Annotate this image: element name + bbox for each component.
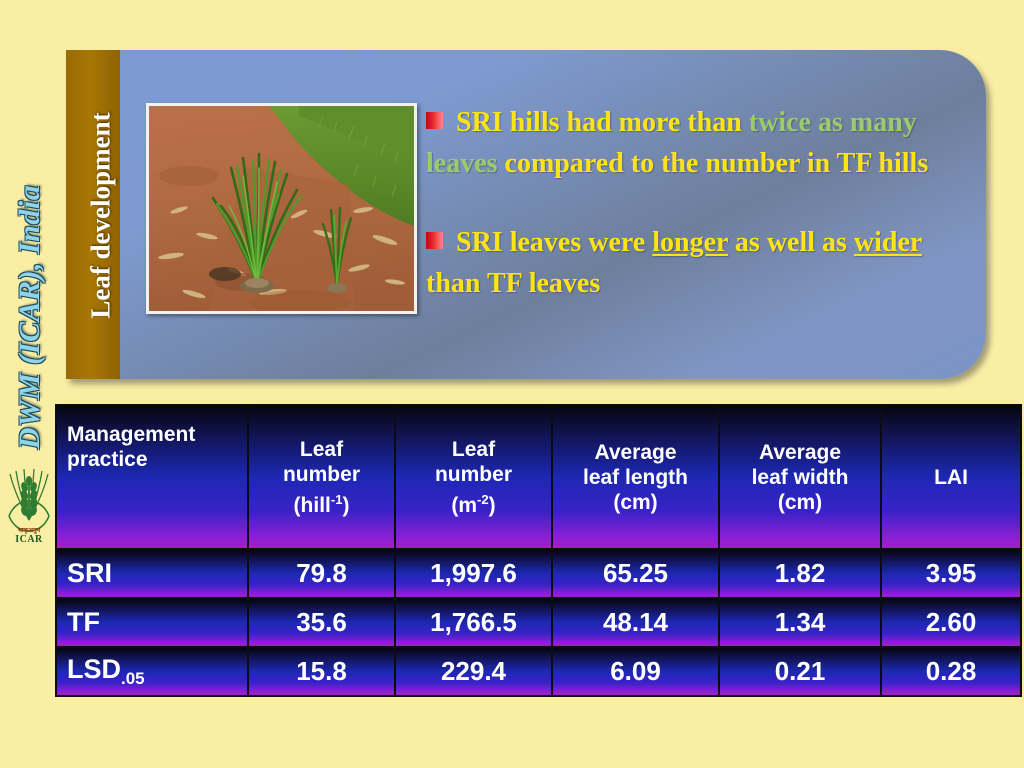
- row-label-tf: TF: [57, 599, 247, 646]
- table-row: TF 35.6 1,766.5 48.14 1.34 2.60: [57, 599, 1020, 646]
- header-line-1: Management: [67, 422, 247, 447]
- cell-lsd-leaf-width: 0.21: [720, 648, 880, 695]
- section-title: Leaf development: [86, 71, 117, 361]
- column-header-lai: LAI: [882, 406, 1020, 548]
- table-row: LSD.05 15.8 229.4 6.09 0.21 0.28: [57, 648, 1020, 695]
- row-label-text: LSD: [67, 654, 121, 684]
- row-label-sri: SRI: [57, 550, 247, 597]
- bullet-2-seg-2-underlined: longer: [652, 227, 728, 258]
- header-line-3: (cm): [553, 490, 718, 515]
- bullet-item-2: SRI leaves were longer as well as wider …: [426, 222, 961, 304]
- header-line-1: Average: [720, 440, 880, 465]
- organization-label: DWM (ICAR), India: [13, 137, 47, 497]
- column-header-management-practice: Management practice: [57, 406, 247, 548]
- row-label-text: TF: [67, 607, 100, 637]
- section-title-bar: Leaf development: [66, 50, 120, 379]
- cell-tf-leaf-length: 48.14: [553, 599, 718, 646]
- table-row: SRI 79.8 1,997.6 65.25 1.82 3.95: [57, 550, 1020, 597]
- table-header-row: Management practice Leaf number (hill-1)…: [57, 406, 1020, 548]
- header-line-1: Leaf: [249, 437, 394, 462]
- bullet-1-seg-3: compared to the number in TF hills: [498, 148, 929, 179]
- header-line-2: practice: [67, 447, 247, 472]
- header-unit-close: ): [489, 494, 496, 517]
- header-line-2: leaf length: [553, 465, 718, 490]
- bullet-2-seg-3: as well as: [728, 227, 854, 258]
- bullet-1-seg-1: SRI hills had more than: [456, 107, 749, 138]
- cell-tf-leaf-number-m2: 1,766.5: [396, 599, 551, 646]
- header-line-2: number: [396, 462, 551, 487]
- bullet-2-seg-1: SRI leaves were: [456, 227, 652, 258]
- logo-acronym-label: ICAR: [3, 534, 55, 545]
- header-line-1: LAI: [882, 465, 1020, 490]
- column-header-leaf-number-m2: Leaf number (m-2): [396, 406, 551, 548]
- header-unit-exponent: -2: [477, 492, 489, 507]
- header-line-2: leaf width: [720, 465, 880, 490]
- cell-tf-leaf-width: 1.34: [720, 599, 880, 646]
- cell-sri-leaf-number-m2: 1,997.6: [396, 550, 551, 597]
- cell-lsd-lai: 0.28: [882, 648, 1020, 695]
- header-line-1: Average: [553, 440, 718, 465]
- header-line-3: (cm): [720, 490, 880, 515]
- row-label-lsd: LSD.05: [57, 648, 247, 695]
- column-header-average-leaf-width: Average leaf width (cm): [720, 406, 880, 548]
- cell-lsd-leaf-length: 6.09: [553, 648, 718, 695]
- cell-tf-lai: 2.60: [882, 599, 1020, 646]
- red-square-bullet-icon: [426, 112, 443, 129]
- cell-tf-leaf-number-hill: 35.6: [249, 599, 394, 646]
- column-header-average-leaf-length: Average leaf length (cm): [553, 406, 718, 548]
- bullet-item-1: SRI hills had more than twice as many le…: [426, 102, 961, 184]
- row-label-text: SRI: [67, 558, 112, 588]
- cell-sri-leaf-number-hill: 79.8: [249, 550, 394, 597]
- rice-hills-field-photo: [146, 103, 417, 314]
- header-line-1: Leaf: [396, 437, 551, 462]
- wheat-sheaf-icon: भाकृअनुप ICAR: [3, 450, 55, 545]
- cell-sri-lai: 3.95: [882, 550, 1020, 597]
- cell-lsd-leaf-number-m2: 229.4: [396, 648, 551, 695]
- logo-hindi-label: भाकृअनुप: [3, 526, 55, 534]
- cell-sri-leaf-length: 65.25: [553, 550, 718, 597]
- bullet-list: SRI hills had more than twice as many le…: [426, 102, 961, 304]
- header-line-3: (m-2): [396, 487, 551, 518]
- header-unit-exponent: -1: [331, 492, 343, 507]
- content-panel: Leaf development: [66, 50, 986, 379]
- leaf-development-table: Management practice Leaf number (hill-1)…: [55, 404, 1022, 697]
- column-header-leaf-number-hill: Leaf number (hill-1): [249, 406, 394, 548]
- brand-strip: DWM (ICAR), India: [0, 0, 56, 768]
- header-unit-open: (hill: [294, 494, 331, 517]
- bullet-2-seg-5: than TF leaves: [426, 268, 600, 299]
- cell-lsd-leaf-number-hill: 15.8: [249, 648, 394, 695]
- row-label-subscript: .05: [121, 669, 145, 688]
- header-unit-open: (m: [451, 494, 477, 517]
- cell-sri-leaf-width: 1.82: [720, 550, 880, 597]
- header-line-3: (hill-1): [249, 487, 394, 518]
- red-square-bullet-icon: [426, 232, 443, 249]
- header-unit-close: ): [342, 494, 349, 517]
- bullet-2-seg-4-underlined: wider: [854, 227, 922, 258]
- header-line-2: number: [249, 462, 394, 487]
